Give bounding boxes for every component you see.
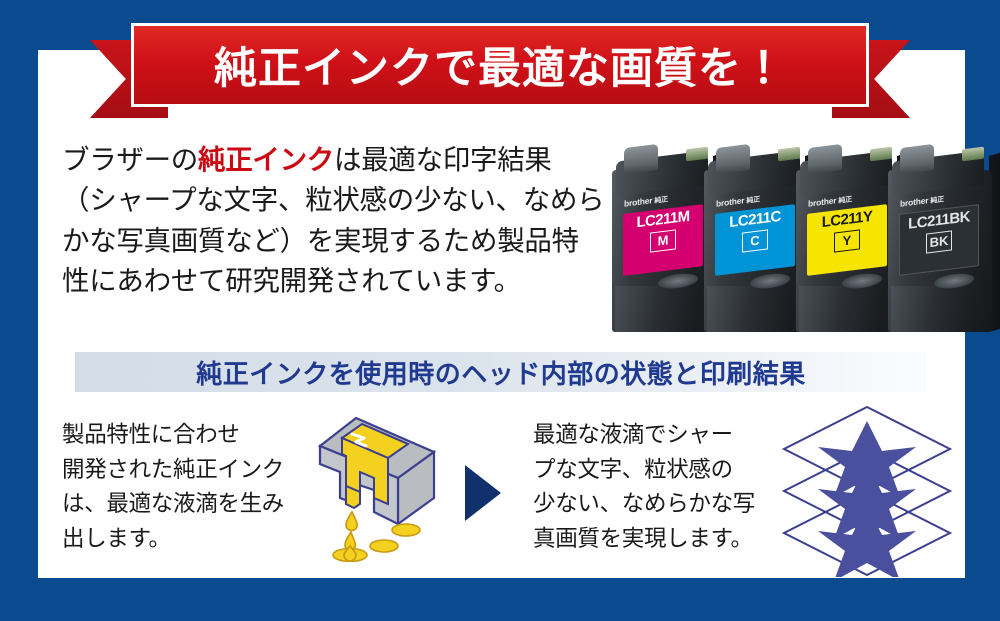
brand-jp: 純正 — [930, 196, 944, 205]
cartridge-code: LC211M — [636, 209, 689, 232]
cartridge-color-mark: M — [650, 229, 676, 252]
right-column-text: 最適な液滴でシャー プな文字、粒状感の 少ない、なめらかな写 真画質を実現します… — [533, 418, 769, 557]
right-line2: プな文字、粒状感の — [533, 457, 733, 482]
right-line3: 少ない、なめらかな写 — [533, 491, 755, 516]
brand-jp: 純正 — [838, 196, 852, 205]
cartridge-lc211m: brother純正 LC211M M — [612, 146, 716, 332]
brand-jp: 純正 — [746, 196, 760, 205]
cartridge-label: LC211Y Y — [807, 204, 887, 276]
printhead-nozzle-icon — [312, 412, 442, 562]
stacked-sheets-stars-icon — [772, 405, 962, 577]
right-line1: 最適な液滴でシャー — [533, 422, 733, 447]
left-column-text: 製品特性に合わせ 開発された純正インク は、最適な液滴を生み 出します。 — [62, 418, 310, 557]
brand-name: brother — [716, 195, 744, 208]
cartridge-label: LC211C C — [715, 204, 795, 276]
banner-title: 純正インクで最適な画質を！ — [134, 26, 866, 104]
cartridge-color-mark: C — [742, 229, 768, 252]
left-line3: は、最適な液滴を生み — [62, 491, 284, 516]
left-line4: 出します。 — [62, 526, 171, 551]
left-line2: 開発された純正インク — [62, 457, 284, 482]
cartridge-cap-icon — [808, 144, 842, 174]
intro-line4: 性にあわせて研究開発されています。 — [62, 265, 521, 296]
cartridge-cap-icon — [900, 144, 934, 174]
cartridge-lc211y: brother純正 LC211Y Y — [796, 146, 900, 332]
cartridge-foot — [615, 286, 701, 332]
section-heading: 純正インクを使用時のヘッド内部の状態と印刷結果 — [196, 354, 806, 391]
cartridge-code: LC211C — [729, 209, 780, 232]
cartridge-cap-icon — [716, 144, 750, 174]
intro-line1-pre: ブラザーの — [62, 144, 198, 175]
section-heading-band: 純正インクを使用時のヘッド内部の状態と印刷結果 — [75, 352, 927, 392]
cartridge-lc211c: brother純正 LC211C C — [704, 146, 808, 332]
cartridge-color-mark: BK — [926, 230, 952, 253]
cartridge-code: LC211BK — [908, 209, 970, 233]
cartridge-lc211bk: brother純正 LC211BK BK — [888, 146, 992, 332]
brand-name: brother — [808, 195, 836, 208]
brand-jp: 純正 — [654, 196, 668, 205]
intro-line1-post: は最適な印字結果 — [334, 144, 552, 175]
ink-cartridge-group: brother純正 LC211M M brother純正 LC211C C — [612, 128, 1000, 332]
cartridge-foot — [891, 286, 977, 332]
ribbon-body: 純正インクで最適な画質を！ — [134, 26, 866, 104]
intro-line2: （シャープな文字、粒状感の少ない、なめら — [62, 184, 604, 215]
cartridge-code: LC211Y — [822, 209, 873, 232]
cartridge-label: LC211M M — [623, 204, 703, 276]
cartridge-label: LC211BK BK — [899, 204, 979, 276]
cartridge-foot — [799, 286, 885, 332]
left-line1: 製品特性に合わせ — [62, 422, 240, 447]
printhead-svg — [312, 412, 442, 562]
advertisement-page: 純正インクで最適な画質を！ ブラザーの純正インクは最適な印字結果 （シャープな文… — [0, 0, 1000, 621]
intro-highlight: 純正インク — [198, 144, 334, 175]
brand-name: brother — [624, 195, 652, 208]
brand-name: brother — [900, 195, 928, 208]
intro-paragraph: ブラザーの純正インクは最適な印字結果 （シャープな文字、粒状感の少ない、なめら … — [62, 140, 607, 302]
cartridge-color-mark: Y — [834, 229, 860, 252]
header-ribbon-banner: 純正インクで最適な画質を！ — [90, 26, 910, 118]
cartridge-cap-icon — [624, 144, 658, 174]
cartridge-foot — [707, 286, 793, 332]
right-triangle-arrow-icon — [465, 465, 501, 521]
intro-line3: かな写真画質など）を実現するため製品特 — [62, 225, 579, 256]
stars-svg — [772, 405, 962, 577]
right-line4: 真画質を実現します。 — [533, 526, 753, 551]
